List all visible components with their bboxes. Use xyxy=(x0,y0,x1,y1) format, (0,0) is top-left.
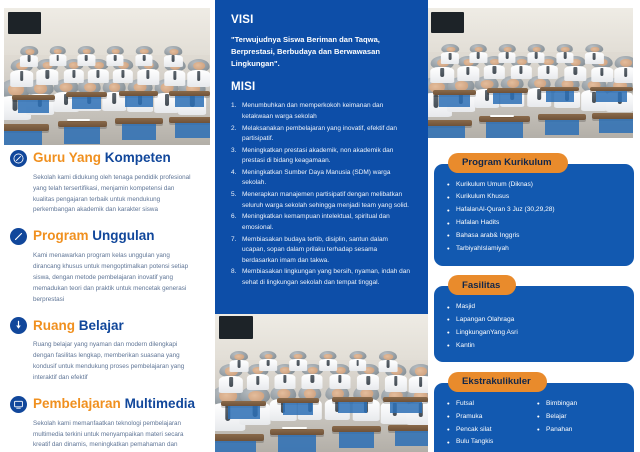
card-list: Masjid Lapangan Olahraga LingkunganYang … xyxy=(446,301,622,352)
misi-list: Menumbuhkan dan memperkokoh keimanan dan… xyxy=(231,101,412,288)
vision-mission-panel: VISI "Terwujudnya Siswa Beriman dan Taqw… xyxy=(215,0,428,314)
monitor-icon xyxy=(10,396,27,413)
feature-title-blue: Unggulan xyxy=(92,228,154,243)
classroom-photo-top-left xyxy=(4,8,210,145)
misi-item: Meningkatkan Sumber Daya Manusia (SDM) w… xyxy=(231,168,412,189)
feature-title-orange: Guru Yang xyxy=(33,150,101,165)
list-item: Kantin xyxy=(446,340,622,353)
card-title-pill: Fasilitas xyxy=(448,275,516,295)
feature-body: Sekolah kami didukung oleh tenaga pendid… xyxy=(10,173,203,216)
list-item: LingkunganYang Asri xyxy=(446,327,622,340)
list-item: Belajar xyxy=(536,411,622,424)
card-program-kurikulum: Program Kurikulum Kurikulum Umum (Diknas… xyxy=(434,152,634,266)
misi-item: Membiasakan lingkungan yang bersih, nyam… xyxy=(231,267,412,288)
feature-ruang-belajar: Ruang Belajar Ruang belajar yang nyaman … xyxy=(0,317,213,383)
list-item: Masjid xyxy=(446,301,622,314)
feature-title-blue: Belajar xyxy=(79,318,124,333)
feature-title: Ruang Belajar xyxy=(33,319,124,334)
list-item: Bulu Tangkis xyxy=(446,436,532,449)
feature-body: Kami menawarkan program kelas unggulan y… xyxy=(10,251,203,305)
feature-title: Program Unggulan xyxy=(33,229,155,244)
feature-title: Guru Yang Kompeten xyxy=(33,151,171,166)
feature-body: Sekolah kami memanfaatkan teknologi pemb… xyxy=(10,419,203,452)
misi-heading: MISI xyxy=(231,81,412,93)
list-item: HafalanAl-Quran 3 Juz (30,29,28) xyxy=(446,204,622,217)
feature-title-orange: Ruang xyxy=(33,318,75,333)
visi-heading: VISI xyxy=(231,14,412,26)
classroom-photo-bottom xyxy=(215,312,428,452)
info-cards: Program Kurikulum Kurikulum Umum (Diknas… xyxy=(434,152,634,452)
classroom-photo-right xyxy=(427,8,633,138)
misi-item: Meningkatkan prestasi akademik, non akad… xyxy=(231,146,412,167)
list-item: Bahasa arab& Inggris xyxy=(446,230,622,243)
misi-item: Membiasakan budaya tertib, disiplin, san… xyxy=(231,235,412,267)
card-body: Kurikulum Umum (Diknas) Kurikulum Khusus… xyxy=(434,164,634,266)
check-badge-icon xyxy=(10,150,27,167)
card-list: Kurikulum Umum (Diknas) Kurikulum Khusus… xyxy=(446,179,622,256)
card-title-pill: Program Kurikulum xyxy=(448,153,568,173)
list-item: Kurikulum Khusus xyxy=(446,191,622,204)
feature-header: Program Unggulan xyxy=(10,228,203,245)
list-item: Hafalan Hadits xyxy=(446,217,622,230)
feature-header: Guru Yang Kompeten xyxy=(10,150,203,167)
list-item: Futsal xyxy=(446,398,532,411)
misi-item: Menumbuhkan dan memperkokoh keimanan dan… xyxy=(231,101,412,122)
lamp-icon xyxy=(10,317,27,334)
brochure-page: VISI "Terwujudnya Siswa Beriman dan Taqw… xyxy=(0,0,640,452)
card-list-right: Bimbingan Belajar Panahan xyxy=(536,398,622,449)
misi-item: Meningkatkan kemampuan intelektual, spir… xyxy=(231,212,412,233)
list-item: Pencak silat xyxy=(446,424,532,437)
card-body: Masjid Lapangan Olahraga LingkunganYang … xyxy=(434,286,634,362)
feature-title: Pembelajaran Multimedia xyxy=(33,397,195,412)
misi-item: Menerapkan manajemen partisipatif dengan… xyxy=(231,190,412,211)
card-list-left: Futsal Pramuka Pencak silat Bulu Tangkis xyxy=(446,398,532,449)
feature-title-orange: Program xyxy=(33,228,89,243)
feature-guru-kompeten: Guru Yang Kompeten Sekolah kami didukung… xyxy=(0,150,213,216)
card-ekstrakulikuler: Ekstrakulikuler Futsal Pramuka Pencak si… xyxy=(434,371,634,452)
feature-title-blue: Kompeten xyxy=(105,150,171,165)
feature-header: Pembelajaran Multimedia xyxy=(10,396,203,413)
feature-title-blue: Multimedia xyxy=(125,396,196,411)
list-item: TarbiyahIslamiyah xyxy=(446,243,622,256)
feature-program-unggulan: Program Unggulan Kami menawarkan program… xyxy=(0,228,213,305)
misi-item: Melaksanakan pembelajaran yang inovatif,… xyxy=(231,124,412,145)
feature-header: Ruang Belajar xyxy=(10,317,203,334)
card-body: Futsal Pramuka Pencak silat Bulu Tangkis… xyxy=(434,383,634,452)
list-item: Bimbingan xyxy=(536,398,622,411)
list-item: Lapangan Olahraga xyxy=(446,314,622,327)
feature-title-orange: Pembelajaran xyxy=(33,396,121,411)
card-columns: Futsal Pramuka Pencak silat Bulu Tangkis… xyxy=(446,398,622,449)
card-fasilitas: Fasilitas Masjid Lapangan Olahraga Lingk… xyxy=(434,275,634,363)
pencil-icon xyxy=(10,228,27,245)
list-item: Panahan xyxy=(536,424,622,437)
visi-quote: "Terwujudnya Siswa Beriman dan Taqwa, Be… xyxy=(231,34,412,69)
list-item: Pramuka xyxy=(446,411,532,424)
feature-pembelajaran-multimedia: Pembelajaran Multimedia Sekolah kami mem… xyxy=(0,396,213,452)
features-list: Guru Yang Kompeten Sekolah kami didukung… xyxy=(0,150,213,452)
list-item: Kurikulum Umum (Diknas) xyxy=(446,179,622,192)
feature-body: Ruang belajar yang nyaman dan modern dil… xyxy=(10,340,203,383)
card-title-pill: Ekstrakulikuler xyxy=(448,372,547,392)
